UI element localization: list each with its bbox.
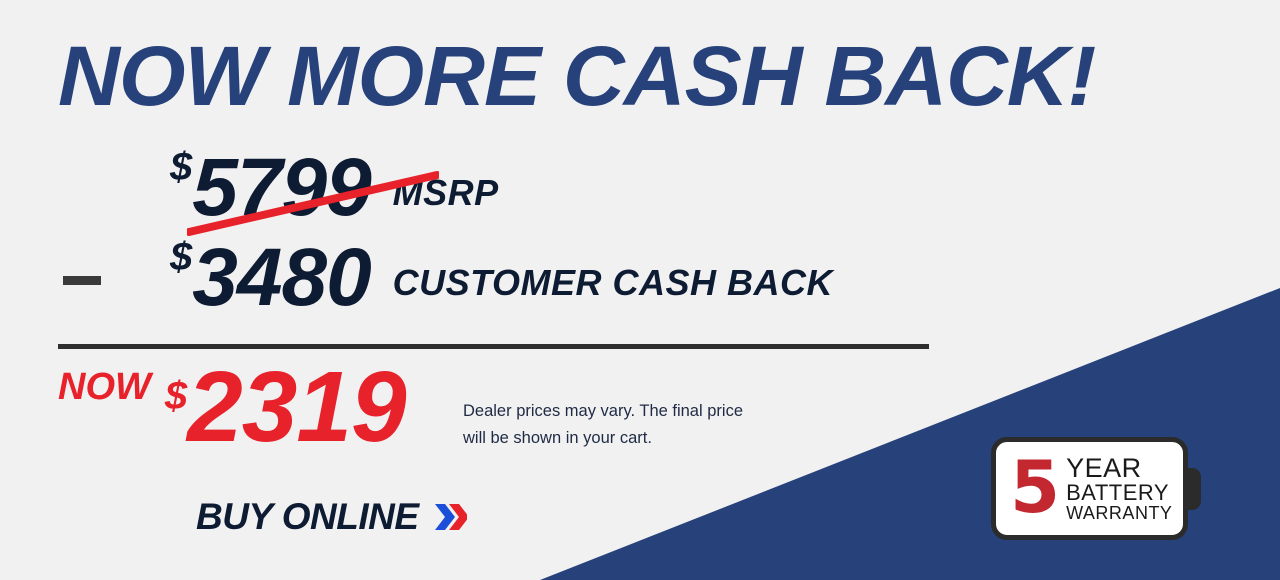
badge-line-warranty: WARRANTY xyxy=(1066,504,1172,522)
msrp-amount: 5799 xyxy=(192,150,370,225)
total-divider xyxy=(58,344,929,349)
buy-online-button[interactable]: BUY ONLINE xyxy=(196,498,467,535)
cash-back-label: CUSTOMER CASH BACK xyxy=(393,265,833,301)
cash-back-amount: 3480 xyxy=(192,240,370,315)
currency-symbol: $ xyxy=(170,147,192,187)
disclaimer-text: Dealer prices may vary. The final price … xyxy=(463,398,743,452)
battery-warranty-badge: 5 YEAR BATTERY WARRANTY xyxy=(991,437,1188,540)
msrp-label: MSRP xyxy=(393,175,499,211)
badge-line-year: YEAR xyxy=(1066,455,1172,482)
badge-line-battery: BATTERY xyxy=(1066,482,1172,504)
final-price-amount: 2319 xyxy=(187,362,405,452)
promo-banner: NOW MORE CASH BACK! $ 5799 MSRP $ 3480 C… xyxy=(0,0,1280,580)
disclaimer-line-1: Dealer prices may vary. The final price xyxy=(463,398,743,425)
price-row-cash-back: $ 3480 CUSTOMER CASH BACK xyxy=(170,240,833,315)
badge-year-number: 5 xyxy=(1010,451,1060,523)
badge-text-block: YEAR BATTERY WARRANTY xyxy=(1066,455,1172,522)
now-label: NOW xyxy=(58,368,151,406)
minus-operator-icon xyxy=(63,276,101,285)
disclaimer-line-2: will be shown in your cart. xyxy=(463,425,743,452)
currency-symbol: $ xyxy=(170,237,192,277)
battery-body-icon: 5 YEAR BATTERY WARRANTY xyxy=(991,437,1188,540)
price-row-msrp: $ 5799 MSRP xyxy=(170,150,499,225)
headline: NOW MORE CASH BACK! xyxy=(58,34,1095,118)
buy-online-label: BUY ONLINE xyxy=(196,498,419,535)
price-row-final: NOW $ 2319 xyxy=(58,362,406,452)
double-chevron-right-icon xyxy=(433,500,467,534)
currency-symbol: $ xyxy=(165,376,187,416)
